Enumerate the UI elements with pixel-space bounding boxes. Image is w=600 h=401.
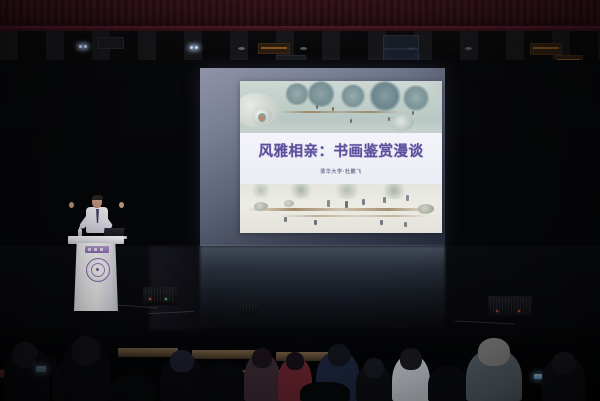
auditorium-photo: 风雅相亲：书画鉴赏漫谈 清华大学·杜鹏飞 [0, 0, 600, 401]
landscape-figure-scholar [406, 195, 409, 201]
led-indicator-icon [496, 310, 498, 312]
audience-area [0, 330, 600, 401]
audience-member [110, 374, 156, 401]
audience-head [12, 342, 38, 368]
audience-head [478, 338, 510, 366]
stage-lamp-icon [238, 47, 245, 50]
landscape-figure [412, 111, 414, 115]
landscape-figure [350, 119, 352, 123]
audience-head [286, 352, 304, 370]
landscape-tree [340, 84, 366, 108]
led-indicator-icon [518, 310, 520, 312]
stage-curtain [0, 0, 600, 28]
landscape-figure-scholar [284, 217, 287, 222]
landscape-tree [288, 184, 314, 199]
slide-text-block: 风雅相亲：书画鉴赏漫谈 清华大学·杜鹏飞 [240, 133, 442, 187]
landscape-figure-scholar [404, 222, 407, 227]
landscape-figure-scholar [380, 220, 383, 225]
landscape-figure-scholar [383, 197, 386, 203]
audience-head [552, 352, 576, 374]
audience-member [428, 366, 468, 401]
audience-head [72, 336, 100, 366]
landscape-figure-scholar [345, 201, 348, 208]
stage-lamp-icon [84, 45, 87, 48]
stage-lamp-icon [465, 47, 472, 50]
audience-head [328, 344, 350, 366]
landscape-stream [246, 208, 436, 211]
audience-head [364, 358, 384, 378]
stage-lamp-icon [190, 46, 193, 49]
ceiling-light-panel [383, 35, 419, 49]
landscape-tree [250, 184, 272, 198]
landscape-figure [388, 117, 390, 121]
artwork-bottom-band [240, 184, 442, 233]
led-indicator-icon [165, 298, 167, 300]
phone-screen [36, 366, 46, 372]
slide-subtitle: 清华大学·杜鹏飞 [320, 168, 362, 175]
landscape-tree [306, 81, 336, 107]
stage-monitor-right [488, 296, 532, 318]
stage-monitor-side [238, 302, 260, 314]
university-seal-icon [86, 258, 110, 282]
landscape-figure-scholar [314, 220, 317, 225]
landscape-tree [368, 81, 402, 111]
presenter-hand-left [69, 202, 74, 208]
landscape-tree [332, 184, 362, 199]
slide-title: 风雅相亲：书画鉴赏漫谈 [259, 145, 424, 160]
landscape-stream [280, 215, 430, 217]
podium-nameplate [85, 246, 109, 253]
landscape-stream [280, 111, 400, 113]
stage-lamp-icon [79, 45, 82, 48]
projection-screen[interactable]: 风雅相亲：书画鉴赏漫谈 清华大学·杜鹏飞 [200, 68, 445, 248]
landscape-figure-seated [260, 116, 264, 121]
audience-head [170, 350, 194, 372]
audience-head [400, 348, 422, 370]
presenter-hand-right [119, 202, 124, 208]
stage-lamp-icon [195, 46, 198, 49]
landscape-tree [402, 85, 430, 111]
audience-member [300, 382, 350, 401]
audience-head [252, 348, 272, 368]
phone-screen[interactable] [534, 374, 542, 379]
artwork-top-band [240, 81, 442, 136]
led-indicator-icon [149, 298, 151, 300]
stage-monitor-left [143, 287, 177, 305]
fixture-housing [530, 43, 562, 55]
fixture-housing [98, 37, 124, 49]
fixture-housing [258, 43, 290, 54]
presentation-slide[interactable]: 风雅相亲：书画鉴赏漫谈 清华大学·杜鹏飞 [240, 81, 442, 233]
presenter-hair [92, 195, 103, 200]
seat-back [118, 348, 178, 357]
podium-top-surface [68, 236, 124, 244]
screen-reflection [200, 246, 445, 330]
landscape-figure-scholar [327, 200, 330, 207]
audience-member [196, 364, 248, 401]
stage-lamp-icon [300, 47, 307, 50]
landscape-figure [316, 105, 318, 109]
landscape-figure [332, 107, 334, 111]
landscape-figure-scholar [362, 199, 365, 205]
